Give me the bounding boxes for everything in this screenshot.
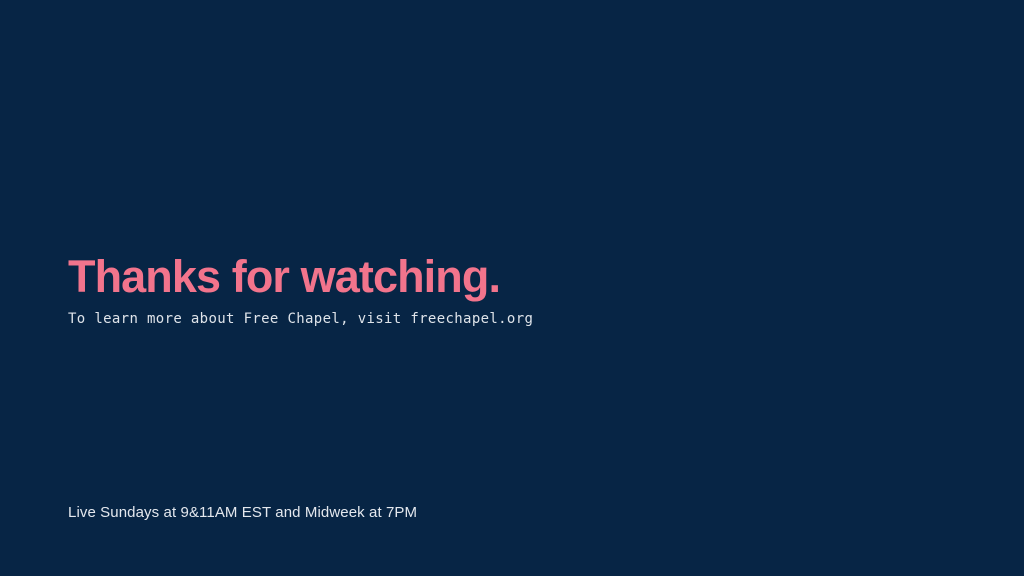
end-slide: Thanks for watching. To learn more about… xyxy=(0,0,1024,576)
service-times-text: Live Sundays at 9&11AM EST and Midweek a… xyxy=(68,503,417,523)
footer-group: Live Sundays at 9&11AM EST and Midweek a… xyxy=(68,503,417,523)
page-title: Thanks for watching. xyxy=(68,252,533,302)
subtitle-text: To learn more about Free Chapel, visit f… xyxy=(68,302,533,329)
headline-group: Thanks for watching. To learn more about… xyxy=(68,252,533,329)
